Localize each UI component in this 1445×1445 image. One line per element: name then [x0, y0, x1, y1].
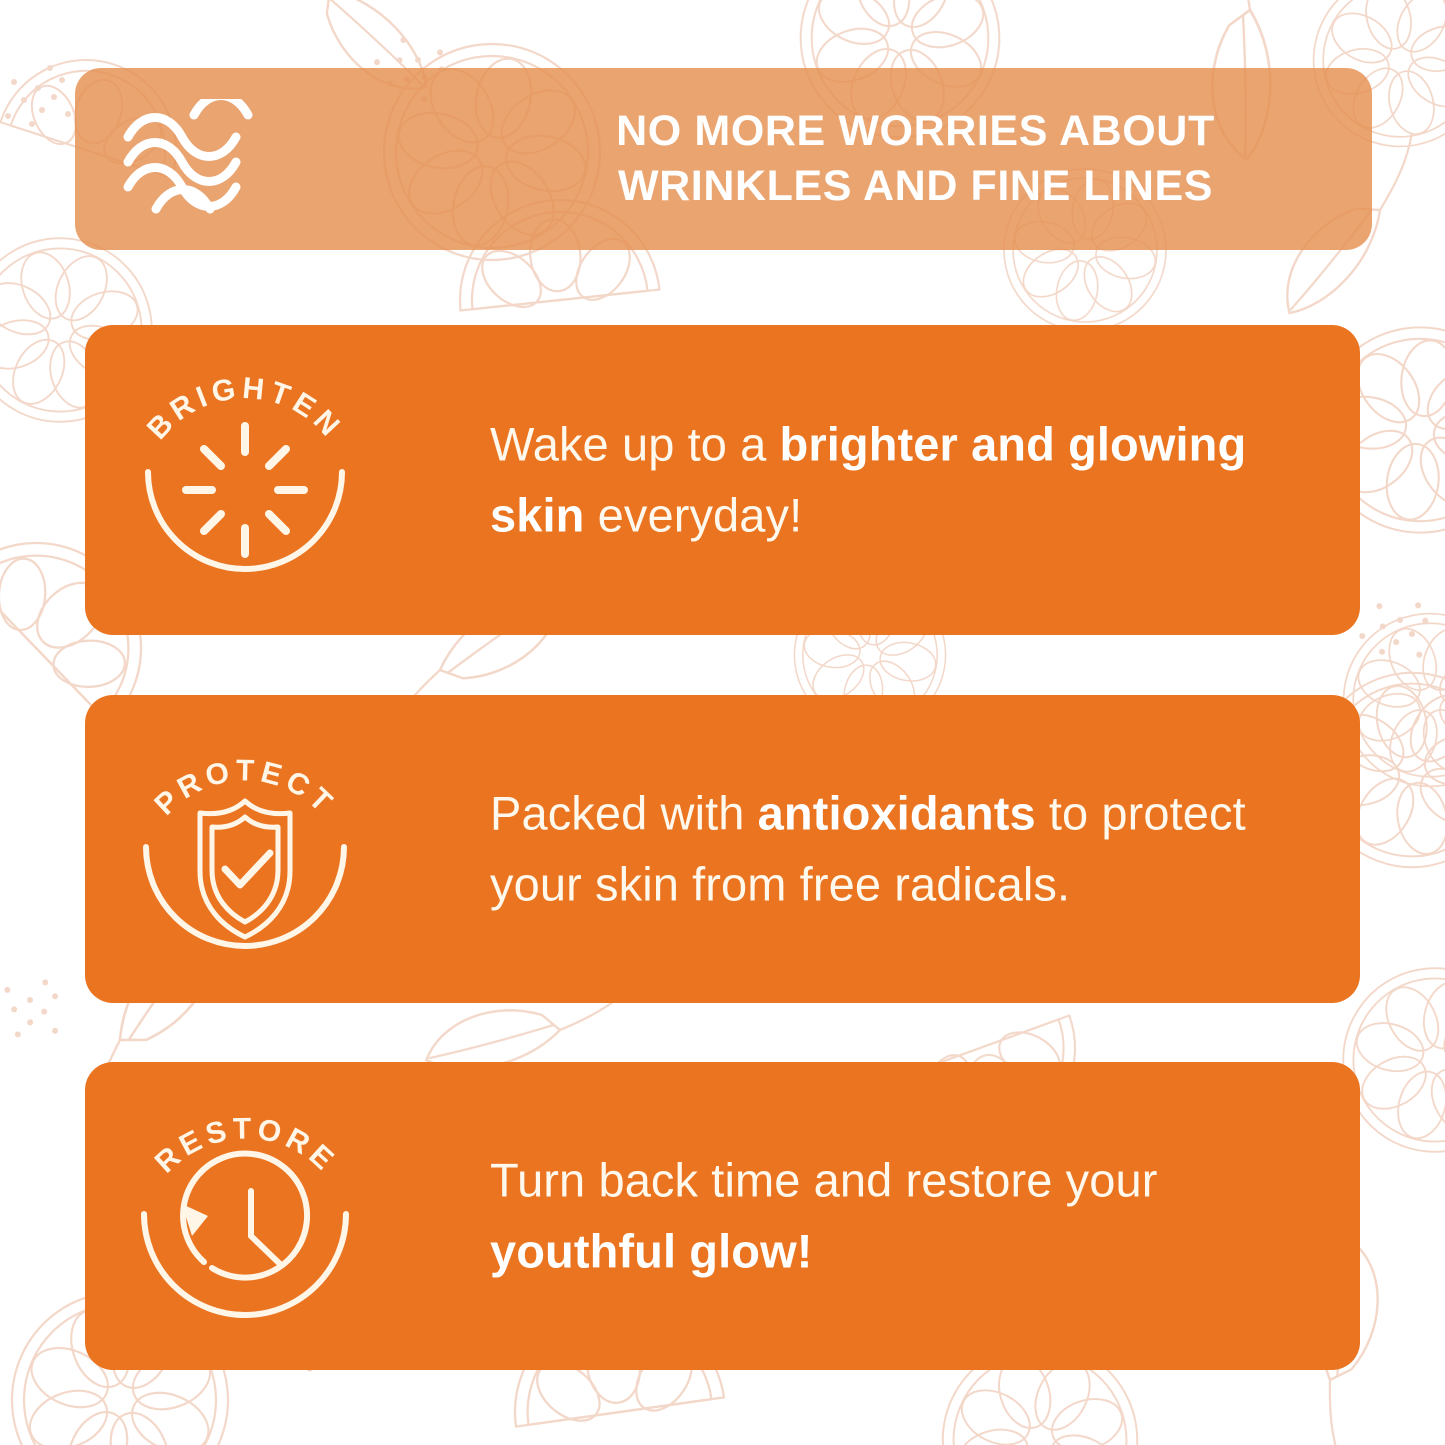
page-title-line-1: NO MORE WORRIES ABOUT — [495, 104, 1336, 159]
benefit-text-restore: Turn back time and restore your youthful… — [490, 1145, 1290, 1288]
brighten-text-plain-2: everyday! — [584, 489, 802, 542]
protect-text-plain-2: your skin from free radicals. — [490, 858, 1070, 911]
svg-text:PROTECT: PROTECT — [148, 754, 341, 821]
benefit-text-protect: Packed with antioxidants to protect your… — [490, 778, 1290, 921]
brighten-text-bold-1: brighter and glowing — [780, 418, 1247, 471]
benefit-card-restore[interactable]: RESTORE Turn back time and restore your … — [85, 1062, 1360, 1370]
restore-clock-icon: RESTORE — [120, 1096, 370, 1336]
brighten-text-bold-2: skin — [490, 489, 584, 542]
restore-text-bold-1: youthful glow! — [490, 1225, 812, 1278]
waves-icon — [120, 99, 270, 219]
benefit-card-brighten[interactable]: BRIGHTEN Wake up to a brighter and glowi… — [85, 325, 1360, 635]
page-title: NO MORE WORRIES ABOUT WRINKLES AND FINE … — [495, 104, 1336, 214]
svg-text:RESTORE: RESTORE — [149, 1112, 343, 1179]
protect-text-bold-1: antioxidants — [758, 787, 1036, 840]
protect-text-plain-1: Packed with — [490, 787, 758, 840]
protect-shield-icon: PROTECT — [120, 729, 370, 969]
restore-badge-label: RESTORE — [149, 1112, 343, 1179]
brighten-sun-icon: BRIGHTEN — [120, 360, 370, 600]
protect-badge-label: PROTECT — [148, 754, 341, 821]
restore-text-plain-1: Turn back time and restore your — [490, 1154, 1157, 1207]
brighten-text-plain-1: Wake up to a — [490, 418, 780, 471]
page-title-line-2: WRINKLES AND FINE LINES — [495, 159, 1336, 214]
benefit-text-brighten: Wake up to a brighter and glowing skin e… — [490, 409, 1290, 552]
promo-page: NO MORE WORRIES ABOUT WRINKLES AND FINE … — [0, 0, 1445, 1445]
header-banner: NO MORE WORRIES ABOUT WRINKLES AND FINE … — [75, 68, 1372, 250]
benefit-card-protect[interactable]: PROTECT Packed with antioxidants to prot… — [85, 695, 1360, 1003]
protect-text-tail: to protect — [1036, 787, 1246, 840]
